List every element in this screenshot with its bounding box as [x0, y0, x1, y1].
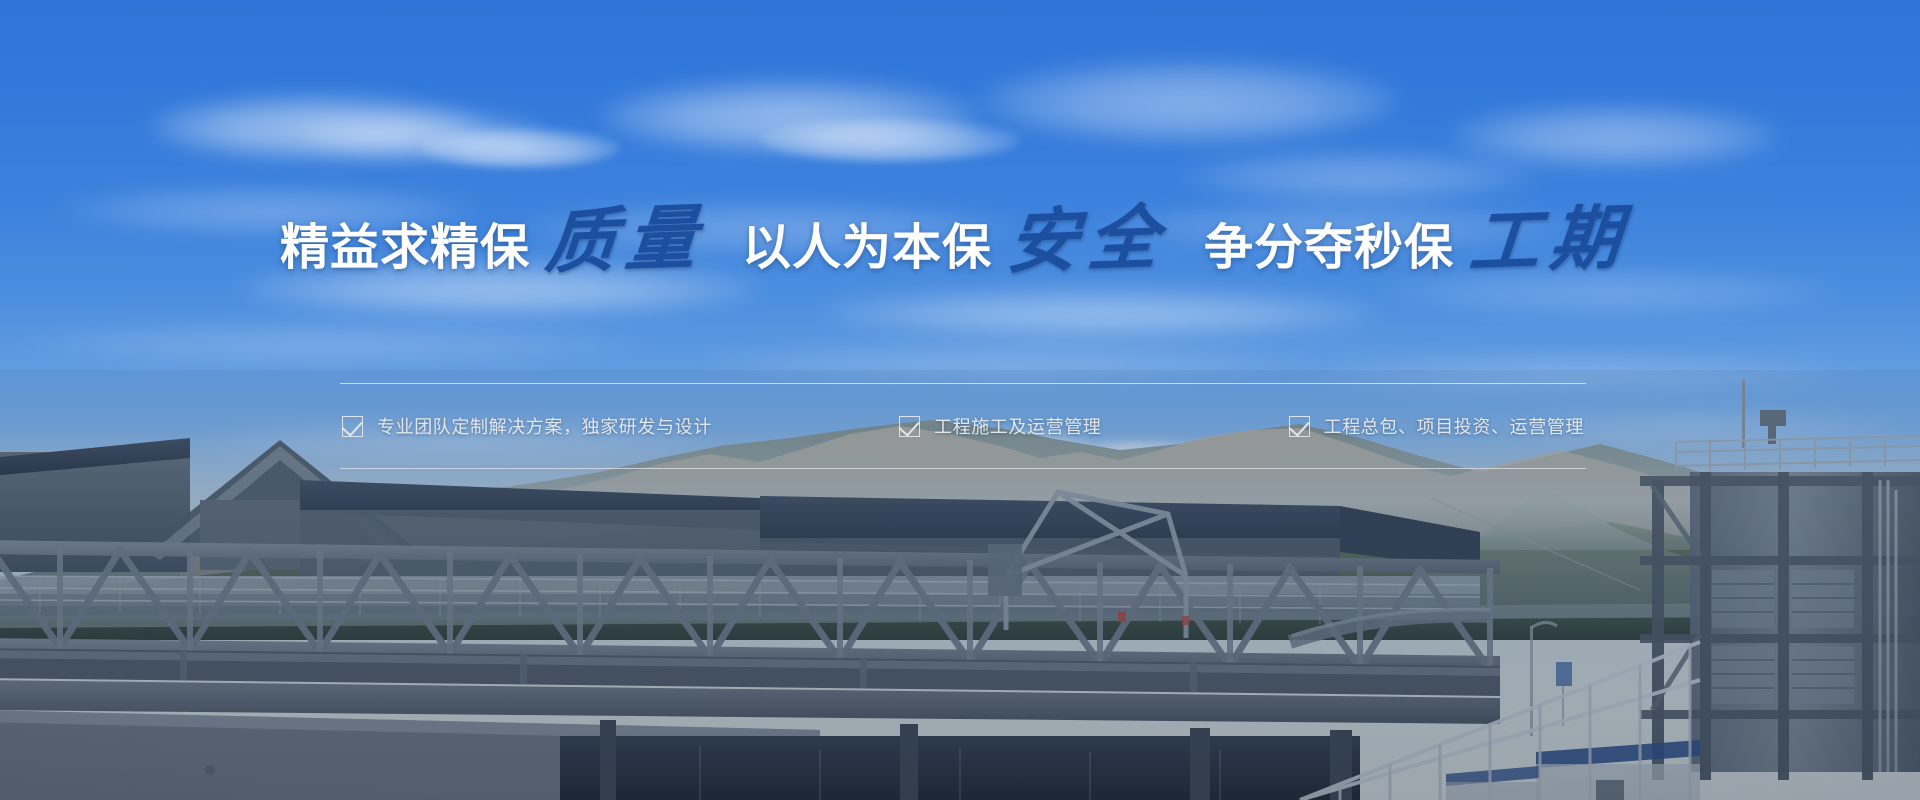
- checkbox-checked-icon: [899, 416, 920, 437]
- headline-plain-1: 精益求精保: [280, 219, 530, 276]
- headline-segment-3: 争分夺秒保工期: [1204, 205, 1640, 275]
- feature-label-2: 工程施工及运营管理: [934, 413, 1101, 439]
- gantry-cabinet: [988, 544, 1022, 596]
- headline-segment-1: 精益求精保质量: [280, 205, 716, 275]
- feature-strip: 专业团队定制解决方案，独家研发与设计 工程施工及运营管理 工程总包、项目投资、运…: [340, 383, 1586, 469]
- street-lamp: [1530, 622, 1557, 736]
- headline-accent-1: 质量: [527, 202, 720, 278]
- headline: 精益求精保质量 以人为本保安全 争分夺秒保工期: [0, 205, 1920, 275]
- headline-accent-3: 工期: [1451, 202, 1644, 278]
- hero-banner: 精益求精保质量 以人为本保安全 争分夺秒保工期 专业团队定制解决方案，独家研发与…: [0, 0, 1920, 800]
- feature-label-1: 专业团队定制解决方案，独家研发与设计: [377, 413, 712, 439]
- feature-label-3: 工程总包、项目投资、运营管理: [1324, 413, 1584, 439]
- small-buildings-right: [1446, 740, 1700, 800]
- headline-plain-2: 以人为本保: [742, 219, 992, 276]
- checkbox-checked-icon: [342, 416, 363, 437]
- feature-item-1[interactable]: 专业团队定制解决方案，独家研发与设计: [342, 413, 712, 439]
- headline-accent-2: 安全: [989, 202, 1182, 278]
- checkbox-checked-icon: [1289, 416, 1310, 437]
- feature-item-3[interactable]: 工程总包、项目投资、运营管理: [1289, 413, 1584, 439]
- feature-row: 专业团队定制解决方案，独家研发与设计 工程施工及运营管理 工程总包、项目投资、运…: [340, 413, 1586, 439]
- feature-item-2[interactable]: 工程施工及运营管理: [899, 413, 1101, 439]
- headline-segment-2: 以人为本保安全: [742, 205, 1178, 275]
- headline-plain-3: 争分夺秒保: [1204, 219, 1454, 276]
